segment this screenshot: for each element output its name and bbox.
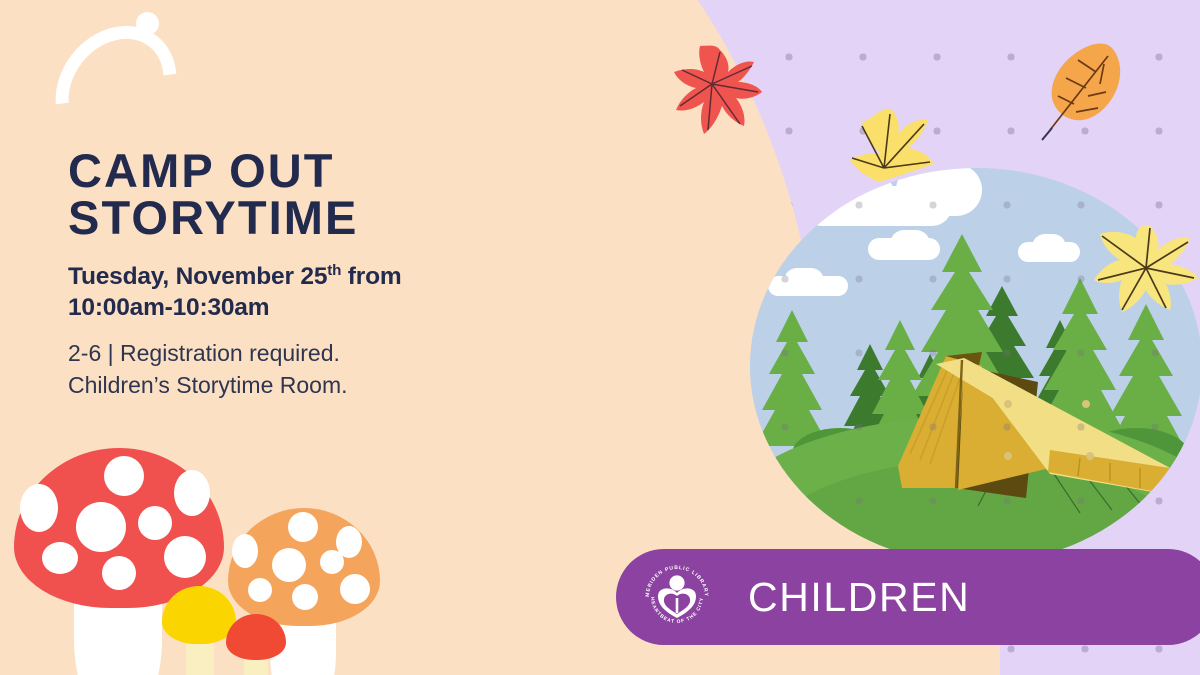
yellow-maple-leaf-right-icon [1094, 212, 1200, 316]
mushroom-spot [248, 578, 272, 602]
mushroom-spot [102, 556, 136, 590]
orange-oval-leaf-icon [1022, 34, 1138, 150]
event-text-block: CAMP OUT STORYTIME Tuesday, November 25t… [68, 148, 538, 401]
mushroom-spot [104, 456, 144, 496]
mushroom-spot [76, 502, 126, 552]
yellow-maple-leaf-left-icon [836, 104, 942, 196]
event-ages-registration: 2-6 | Registration required. [68, 338, 538, 370]
white-dot-icon [136, 12, 159, 35]
mushroom-spot [138, 506, 172, 540]
mushroom-spot [164, 536, 206, 578]
library-logo-mark: MERIDEN PUBLIC LIBRARY HEARTBEAT OF THE … [640, 560, 714, 634]
mushroom-spot [174, 470, 210, 516]
mushroom-spot [42, 542, 78, 574]
date-ordinal-suffix: th [327, 262, 341, 279]
mushroom-spot [288, 512, 318, 542]
category-banner: MERIDEN PUBLIC LIBRARY HEARTBEAT OF THE … [616, 549, 1200, 645]
mushroom-spot [232, 534, 258, 568]
event-date-tail: from [341, 263, 401, 290]
event-location: Children’s Storytime Room. [68, 370, 538, 402]
category-label: CHILDREN [748, 574, 970, 621]
event-datetime: Tuesday, November 25th from 10:00am-10:3… [68, 261, 538, 324]
page-title: CAMP OUT STORYTIME [68, 148, 538, 241]
mushroom-spot [272, 548, 306, 582]
mushroom-spot [292, 584, 318, 610]
mushroom-spot [340, 574, 370, 604]
event-date: Tuesday, November 25 [68, 263, 327, 290]
poster-canvas: CAMP OUT STORYTIME Tuesday, November 25t… [0, 0, 1200, 675]
event-time: 10:00am-10:30am [68, 294, 269, 321]
library-logo: MERIDEN PUBLIC LIBRARY HEARTBEAT OF THE … [640, 560, 714, 634]
red-maple-leaf-icon [668, 40, 776, 140]
mushroom-spot [320, 550, 344, 574]
mushroom-spot [20, 484, 58, 532]
